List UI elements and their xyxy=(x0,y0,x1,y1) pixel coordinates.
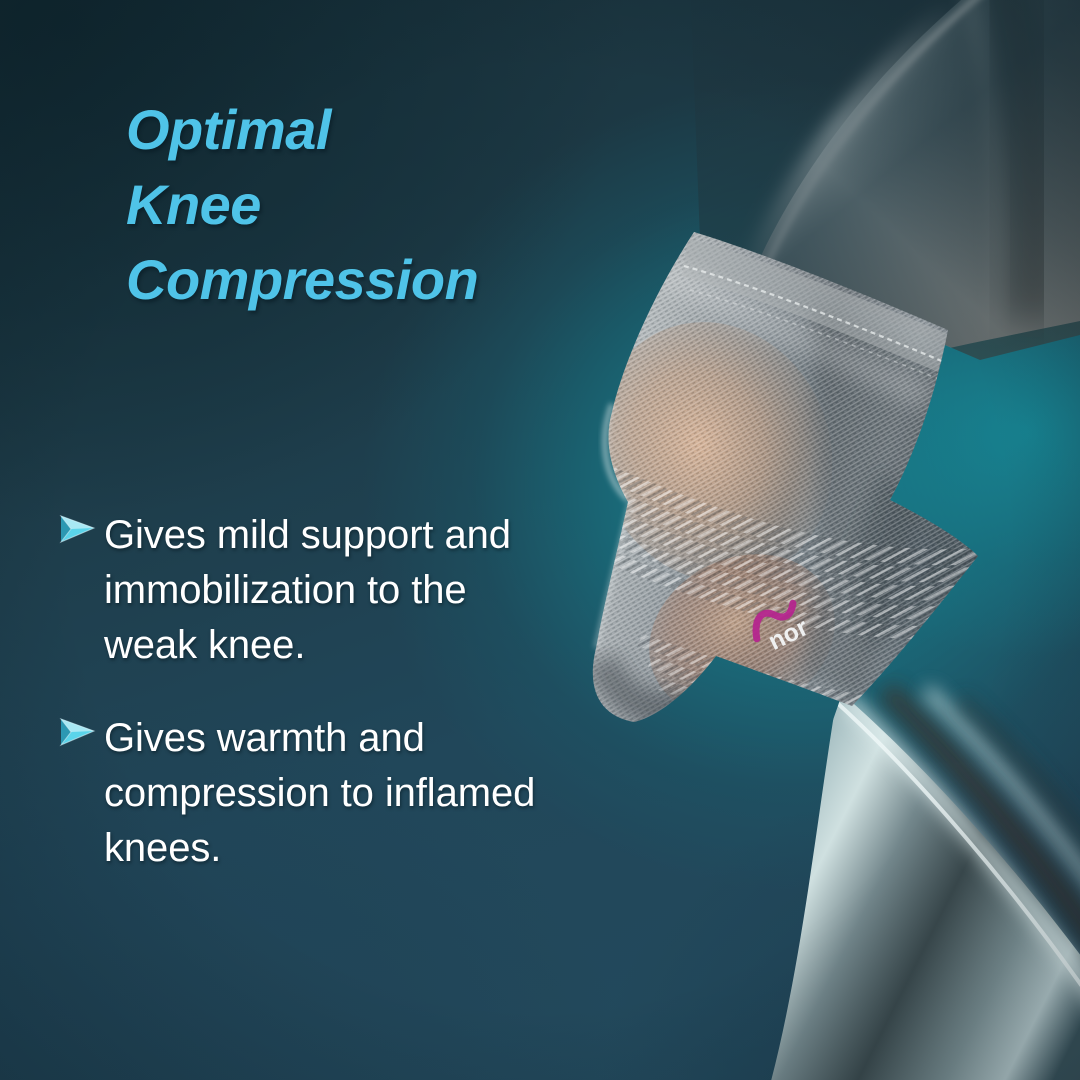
product-marketing-poster: nor Optimal Knee Compression xyxy=(0,0,1080,1080)
bullet-1-line-1: Gives mild support and xyxy=(104,508,628,563)
bullet-1-line-3: weak knee. xyxy=(104,618,628,673)
headline-line-2: Knee xyxy=(126,167,596,242)
bullet-2-line-2: compression to inflamed xyxy=(104,766,628,821)
headline-line-3: Compression xyxy=(126,242,596,317)
list-item-text: Gives mild support and immobilization to… xyxy=(104,508,628,673)
feature-list: Gives mild support and immobilization to… xyxy=(58,508,628,914)
poster-content: Optimal Knee Compression Gives mild supp… xyxy=(0,0,1080,1080)
list-item: Gives warmth and compression to inflamed… xyxy=(58,711,628,876)
bullet-2-line-1: Gives warmth and xyxy=(104,711,628,766)
arrowhead-bullet-icon xyxy=(58,508,104,546)
page-title: Optimal Knee Compression xyxy=(126,92,596,317)
list-item: Gives mild support and immobilization to… xyxy=(58,508,628,673)
bullet-2-line-3: knees. xyxy=(104,821,628,876)
arrowhead-bullet-icon xyxy=(58,711,104,749)
bullet-1-line-2: immobilization to the xyxy=(104,563,628,618)
headline-line-1: Optimal xyxy=(126,92,596,167)
list-item-text: Gives warmth and compression to inflamed… xyxy=(104,711,628,876)
